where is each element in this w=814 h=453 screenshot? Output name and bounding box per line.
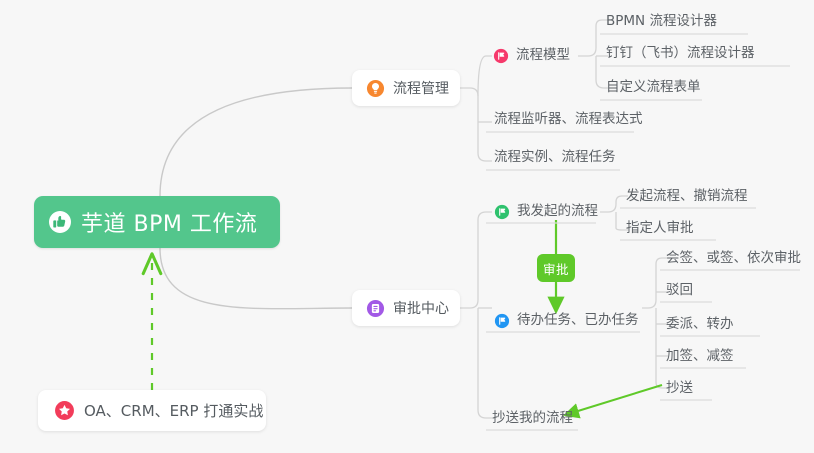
root-label: 芋道 BPM 工作流 bbox=[81, 206, 257, 238]
node-integration-practice-label: OA、CRM、ERP 打通实战 bbox=[84, 400, 263, 421]
node-flow-management-label: 流程管理 bbox=[393, 78, 449, 98]
leaf-my-initiated-flows[interactable]: 我发起的流程 bbox=[511, 202, 604, 226]
leaf-flow-instance-task[interactable]: 流程实例、流程任务 bbox=[488, 148, 622, 172]
root-node[interactable]: 芋道 BPM 工作流 bbox=[34, 196, 280, 248]
leaf-todo-done-tasks[interactable]: 待办任务、已办任务 bbox=[511, 311, 645, 335]
leaf-add-remove-sign[interactable]: 加签、减签 bbox=[660, 347, 740, 371]
node-approval-center-label: 审批中心 bbox=[393, 298, 449, 318]
leaf-delegate-transfer[interactable]: 委派、转办 bbox=[660, 315, 740, 339]
mindmap-canvas: 芋道 BPM 工作流 流程管理 审批中心 bbox=[0, 0, 814, 453]
node-flow-management[interactable]: 流程管理 bbox=[352, 70, 460, 106]
thumbs-up-icon bbox=[48, 210, 72, 234]
connector-approval-center-branch-cc bbox=[478, 308, 492, 418]
leaf-custom-flow-form[interactable]: 自定义流程表单 bbox=[600, 78, 707, 102]
approval-tag[interactable]: 审批 bbox=[537, 254, 575, 282]
flag-red-icon bbox=[493, 48, 509, 64]
flag-green-icon bbox=[494, 204, 510, 220]
connector-root-to-approval-center bbox=[160, 248, 352, 309]
connector-approval-center-spine bbox=[460, 212, 492, 308]
leaf-cc[interactable]: 抄送 bbox=[660, 379, 699, 403]
doc-purple-icon bbox=[366, 299, 385, 318]
node-integration-practice[interactable]: OA、CRM、ERP 打通实战 bbox=[38, 390, 266, 431]
star-icon bbox=[52, 399, 76, 423]
flag-blue-icon bbox=[494, 313, 510, 329]
leaf-reject[interactable]: 驳回 bbox=[660, 281, 699, 305]
leaf-start-cancel-flow[interactable]: 发起流程、撤销流程 bbox=[620, 187, 754, 211]
connector-root-to-flow-management bbox=[160, 88, 352, 196]
leaf-assignee-approval[interactable]: 指定人审批 bbox=[620, 219, 700, 243]
leaf-dingtalk-feishu-designer[interactable]: 钉钉（飞书）流程设计器 bbox=[600, 44, 761, 68]
leaf-flow-listener-expression[interactable]: 流程监听器、流程表达式 bbox=[488, 110, 649, 134]
leaf-cc-to-me-flows[interactable]: 抄送我的流程 bbox=[486, 409, 579, 433]
node-approval-center[interactable]: 审批中心 bbox=[352, 290, 460, 326]
arrow-cc-to-cc-my-flows bbox=[565, 385, 662, 415]
leaf-bpmn-designer[interactable]: BPMN 流程设计器 bbox=[600, 12, 723, 36]
leaf-countersign-or-sequential[interactable]: 会签、或签、依次审批 bbox=[660, 249, 807, 273]
lightbulb-icon bbox=[366, 79, 385, 98]
connector-flow-management-branch-model bbox=[478, 56, 492, 96]
leaf-flow-model[interactable]: 流程模型 bbox=[510, 46, 576, 70]
